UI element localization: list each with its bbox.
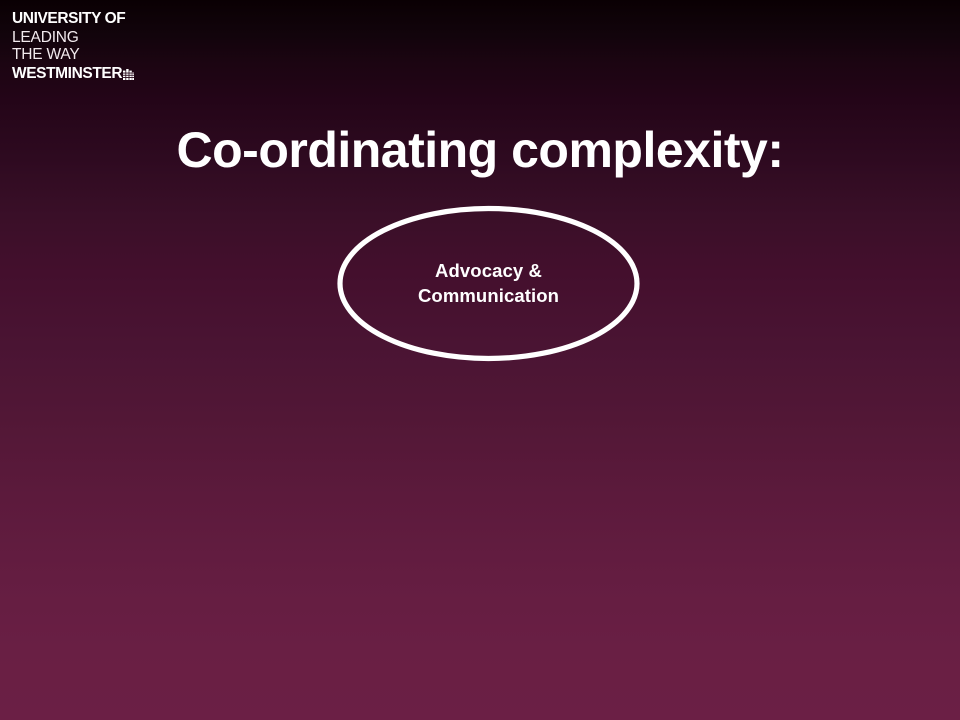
slide-title: Co-ordinating complexity: [0,124,960,177]
logo-line-university-of: UNIVERSITY OF [12,11,192,27]
ellipse-label-line-1: Advocacy & [435,259,542,284]
logo-line-westminster: WESTMINSTER [12,66,122,82]
westminster-building-icon [123,69,134,80]
university-of-westminster-logo: UNIVERSITY OF LEADING THE WAY WESTMINSTE… [12,11,192,81]
logo-line-the-way: THE WAY [12,47,192,63]
slide-canvas: UNIVERSITY OF LEADING THE WAY WESTMINSTE… [0,0,960,720]
logo-line-leading: LEADING [12,30,192,46]
ellipse-label: Advocacy & Communication [337,205,640,362]
logo-line-westminster-row: WESTMINSTER [12,66,192,82]
advocacy-communication-ellipse: Advocacy & Communication [337,205,640,362]
ellipse-label-line-2: Communication [418,284,559,309]
